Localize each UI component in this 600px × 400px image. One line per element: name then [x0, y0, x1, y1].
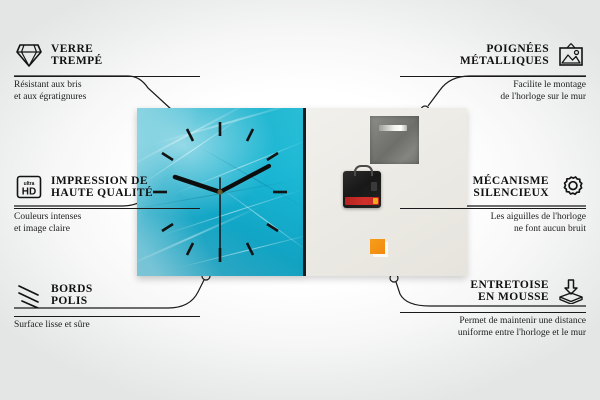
feature-divider: [400, 312, 586, 313]
hd-label: HD: [22, 187, 36, 198]
feature-description: Résistant aux bris et aux égratignures: [14, 80, 200, 103]
battery-terminal: [373, 198, 378, 204]
product-infographic: VERRE TREMPÉ Résistant aux bris et aux é…: [0, 0, 600, 400]
feature-entretoise-en-mousse: ENTRETOISE EN MOUSSE Permet de maintenir…: [400, 272, 586, 339]
feature-title-line2: MÉTALLIQUES: [460, 55, 549, 68]
feature-desc-line1: Surface lisse et sûre: [14, 320, 200, 332]
feature-divider: [14, 208, 200, 209]
feature-divider: [400, 208, 586, 209]
minute-hand: [220, 166, 269, 192]
feature-desc-line2: et aux égratignures: [14, 92, 200, 104]
feature-title: BORDS POLIS: [51, 283, 93, 308]
feature-desc-line2: uniforme entre l'horloge et le mur: [400, 328, 586, 340]
feature-header: ENTRETOISE EN MOUSSE: [400, 272, 586, 310]
feature-title-line1: ENTRETOISE: [470, 279, 549, 292]
feature-title: VERRE TREMPÉ: [51, 43, 103, 68]
feature-bords-polis: BORDS POLIS Surface lisse et sûre: [14, 276, 200, 332]
feature-title-line1: BORDS: [51, 283, 93, 296]
feature-title-line2: TREMPÉ: [51, 55, 103, 68]
feature-verre-trempe: VERRE TREMPÉ Résistant aux bris et aux é…: [14, 36, 200, 103]
feature-impression-hd: ultra HD IMPRESSION DE HAUTE QUALITÉ Cou…: [14, 168, 200, 235]
clock-center-cap: [217, 189, 222, 194]
feature-poignees-metalliques: POIGNÉES MÉTALLIQUES Facilite le montage…: [400, 36, 586, 103]
feature-header: BORDS POLIS: [14, 276, 200, 314]
feature-title-line1: IMPRESSION DE: [51, 175, 153, 188]
feature-title-line2: SILENCIEUX: [473, 187, 549, 200]
feature-description: Surface lisse et sûre: [14, 320, 200, 332]
battery-label: [345, 197, 379, 205]
feature-divider: [14, 316, 200, 317]
gear-icon: [556, 172, 586, 202]
feature-divider: [400, 76, 586, 77]
feature-header: ultra HD IMPRESSION DE HAUTE QUALITÉ: [14, 168, 200, 206]
feature-desc-line2: et image claire: [14, 224, 200, 236]
foam-spacer: [370, 239, 385, 254]
feature-header: POIGNÉES MÉTALLIQUES: [400, 36, 586, 74]
feature-desc-line2: de l'horloge sur le mur: [400, 92, 586, 104]
feature-title: ENTRETOISE EN MOUSSE: [470, 279, 549, 304]
feature-divider: [14, 76, 200, 77]
feature-header: MÉCANISME SILENCIEUX: [400, 168, 586, 206]
mechanism-hanging-loop: [354, 165, 373, 176]
hanger-slot: [379, 125, 407, 131]
ultra-hd-badge-icon: ultra HD: [14, 172, 44, 202]
feature-title: MÉCANISME SILENCIEUX: [473, 175, 549, 200]
feature-header: VERRE TREMPÉ: [14, 36, 200, 74]
clock-mechanism: [343, 171, 381, 208]
polished-edges-icon: [14, 280, 44, 310]
foam-spacer-icon: [556, 276, 586, 306]
feature-description: Les aiguilles de l'horloge ne font aucun…: [400, 212, 586, 235]
mechanism-time-setter: [371, 182, 377, 191]
feature-desc-line1: Résistant aux bris: [14, 80, 200, 92]
feature-mecanisme-silencieux: MÉCANISME SILENCIEUX Les aiguilles de l'…: [400, 168, 586, 235]
feature-title-line1: VERRE: [51, 43, 103, 56]
feature-desc-line1: Permet de maintenir une distance: [400, 316, 586, 328]
feature-title-line2: POLIS: [51, 295, 93, 308]
feature-title-line1: POIGNÉES: [460, 43, 549, 56]
feature-desc-line2: ne font aucun bruit: [400, 224, 586, 236]
feature-description: Permet de maintenir une distance uniform…: [400, 316, 586, 339]
feature-title: IMPRESSION DE HAUTE QUALITÉ: [51, 175, 153, 200]
feature-description: Couleurs intenses et image claire: [14, 212, 200, 235]
feature-title-line2: HAUTE QUALITÉ: [51, 187, 153, 200]
feature-desc-line1: Les aiguilles de l'horloge: [400, 212, 586, 224]
feature-description: Facilite le montage de l'horloge sur le …: [400, 80, 586, 103]
picture-hanger-icon: [556, 40, 586, 70]
feature-title: POIGNÉES MÉTALLIQUES: [460, 43, 549, 68]
feature-desc-line1: Couleurs intenses: [14, 212, 200, 224]
metal-hanger-plate: [370, 116, 419, 164]
feature-desc-line1: Facilite le montage: [400, 80, 586, 92]
diamond-icon: [14, 40, 44, 70]
feature-title-line1: MÉCANISME: [473, 175, 549, 188]
feature-title-line2: EN MOUSSE: [470, 291, 549, 304]
